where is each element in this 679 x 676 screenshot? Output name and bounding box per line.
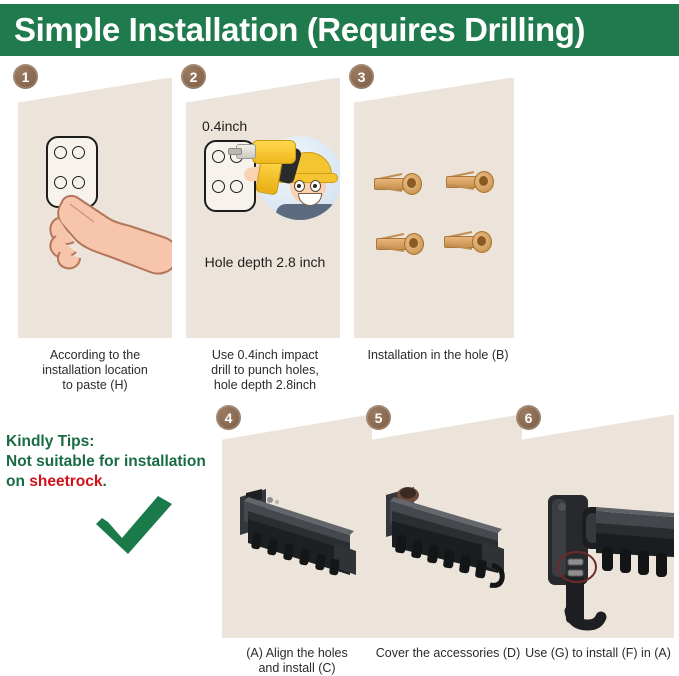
step-badge-2: 2 [181, 64, 206, 89]
wall-panel-6 [522, 415, 674, 638]
step-5: 5 [372, 415, 522, 638]
hand-illustration [48, 156, 172, 286]
step-caption-6: Use (G) to install (F) in (A) [518, 646, 678, 661]
drill-bit-icon [228, 148, 242, 155]
template-hole-1 [212, 150, 225, 163]
kindly-tips-block: Kindly Tips: Not suitable for installati… [6, 432, 218, 492]
wall-panel-5 [372, 415, 522, 638]
step-2-illustration: 0.4inch [186, 78, 340, 338]
step-2: 0.4inch [186, 78, 340, 338]
wall-anchor-2 [446, 168, 494, 194]
drying-rack-graphic [222, 415, 372, 638]
tips-heading: Kindly Tips: [6, 432, 218, 452]
template-hole-4 [230, 180, 243, 193]
step-3-illustration [354, 78, 514, 338]
template-hole-3 [212, 180, 225, 193]
step-5-illustration [372, 415, 522, 638]
tips-highlight-sheetrock: sheetrock [29, 473, 102, 490]
anchor-bore [407, 178, 416, 188]
step-badge-6: 6 [516, 405, 541, 430]
page-title: Simple Installation (Requires Drilling) [0, 11, 585, 49]
step-4: 4 [222, 415, 372, 638]
drying-rack-with-cover-graphic [372, 415, 522, 638]
wall-anchor-3 [376, 230, 424, 256]
step-3: 3 [354, 78, 514, 338]
drill-diameter-label: 0.4inch [202, 118, 247, 134]
wall-anchor-4 [444, 228, 492, 254]
worker-pupil-right [313, 184, 317, 188]
step-4-illustration [222, 415, 372, 638]
step-badge-1: 1 [13, 64, 38, 89]
rack-closeup-graphic [522, 415, 674, 638]
anchor-bore [477, 236, 486, 246]
wall-panel-3 [354, 78, 514, 338]
step-caption-1: According to the installation location t… [10, 348, 180, 393]
step-caption-2: Use 0.4inch impact drill to punch holes,… [180, 348, 350, 393]
step-1: 1 [18, 78, 172, 338]
step-1-illustration [18, 78, 172, 338]
tips-line-2: Not suitable for installation [6, 452, 218, 472]
wall-anchor-1 [374, 170, 422, 196]
header-banner: Simple Installation (Requires Drilling) [0, 4, 679, 56]
step-badge-3: 3 [349, 64, 374, 89]
step-6-illustration [522, 415, 674, 638]
wall-panel-4 [222, 415, 372, 638]
step-caption-3: Installation in the hole (B) [348, 348, 528, 363]
anchor-bore [409, 238, 418, 248]
step-badge-4: 4 [216, 405, 241, 430]
hole-depth-label: Hole depth 2.8 inch [196, 254, 334, 270]
step-6: 6 [522, 415, 674, 638]
worker-pupil-left [297, 184, 301, 188]
tips-line-3: on sheetrock. [6, 472, 218, 492]
drill-body [252, 140, 296, 164]
tips-suffix: . [102, 473, 106, 490]
installation-infographic: Simple Installation (Requires Drilling) [0, 0, 679, 676]
green-check-icon [92, 494, 176, 556]
step-caption-5: Cover the accessories (D) [368, 646, 528, 661]
wall-panel-2: 0.4inch [186, 78, 340, 338]
anchor-bore [479, 176, 488, 186]
step-badge-5: 5 [366, 405, 391, 430]
wall-panel-1 [18, 78, 172, 338]
worker-torso [276, 204, 340, 220]
step-caption-4: (A) Align the holes and install (C) [217, 646, 377, 676]
tips-prefix: on [6, 473, 29, 490]
